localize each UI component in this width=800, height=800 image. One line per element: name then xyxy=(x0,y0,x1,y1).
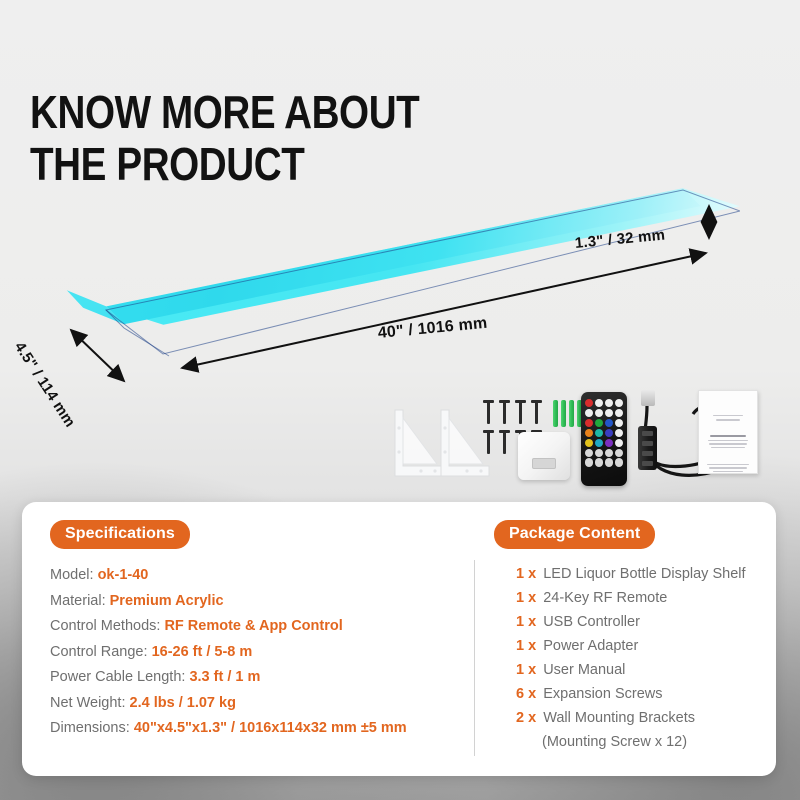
item-qty: 1 x xyxy=(516,662,536,678)
spec-label: Power Cable Length: xyxy=(50,669,185,685)
item-qty: 6 x xyxy=(516,686,536,702)
spec-value: 40"x4.5"x1.3" / 1016x114x32 mm ±5 mm xyxy=(134,720,407,736)
item-name: Power Adapter xyxy=(543,638,638,654)
product-illustration xyxy=(0,150,800,410)
item-qty: 1 x xyxy=(516,590,536,606)
infographic-canvas: KNOW MORE ABOUT THE PRODUCT 40" / xyxy=(0,0,800,800)
spec-row: Material: Premium Acrylic xyxy=(50,589,470,615)
item-name: Wall Mounting Brackets xyxy=(543,710,695,726)
specifications-panel: Specifications Model: ok-1-40 Material: … xyxy=(50,520,470,742)
item-qty: 1 x xyxy=(516,638,536,654)
item-qty: 2 x xyxy=(516,710,536,726)
specifications-list: Model: ok-1-40 Material: Premium Acrylic… xyxy=(50,563,470,742)
item-name: Expansion Screws xyxy=(543,686,662,702)
spec-label: Material: xyxy=(50,593,106,609)
panel-divider xyxy=(474,560,475,756)
list-item: 1 x USB Controller xyxy=(516,610,774,634)
usb-plug-icon xyxy=(641,390,655,406)
spec-value: Premium Acrylic xyxy=(110,593,224,609)
spec-value: 2.4 lbs / 1.07 kg xyxy=(130,695,236,711)
user-manual-icon xyxy=(698,390,758,474)
spec-label: Control Methods: xyxy=(50,618,160,634)
item-name: LED Liquor Bottle Display Shelf xyxy=(543,566,745,582)
spec-row: Control Range: 16-26 ft / 5-8 m xyxy=(50,640,470,666)
package-content-panel: Package Content 1 x LED Liquor Bottle Di… xyxy=(494,520,774,754)
list-item: 6 x Expansion Screws xyxy=(516,682,774,706)
item-name: USB Controller xyxy=(543,614,640,630)
spec-row: Net Weight: 2.4 lbs / 1.07 kg xyxy=(50,691,470,717)
spec-row: Dimensions: 40"x4.5"x1.3" / 1016x114x32 … xyxy=(50,716,470,742)
accessories-group xyxy=(385,388,775,493)
package-content-badge: Package Content xyxy=(494,520,655,549)
package-content-list: 1 x LED Liquor Bottle Display Shelf 1 x … xyxy=(494,562,774,754)
package-content-note: (Mounting Screw x 12) xyxy=(516,730,774,754)
spec-row: Control Methods: RF Remote & App Control xyxy=(50,614,470,640)
list-item: 1 x User Manual xyxy=(516,658,774,682)
specifications-badge: Specifications xyxy=(50,520,190,549)
info-card: Specifications Model: ok-1-40 Material: … xyxy=(22,502,776,776)
list-item: 1 x LED Liquor Bottle Display Shelf xyxy=(516,562,774,586)
spec-value: RF Remote & App Control xyxy=(164,618,342,634)
spec-value: 16-26 ft / 5-8 m xyxy=(152,644,253,660)
item-qty: 1 x xyxy=(516,614,536,630)
item-name: User Manual xyxy=(543,662,625,678)
usb-power-adapter-icon xyxy=(518,432,570,480)
spec-row: Model: ok-1-40 xyxy=(50,563,470,589)
spec-label: Dimensions: xyxy=(50,720,130,736)
list-item: 1 x Power Adapter xyxy=(516,634,774,658)
spec-value: ok-1-40 xyxy=(98,567,149,583)
remote-button-grid xyxy=(585,399,623,467)
inline-controller-box xyxy=(638,426,657,470)
spec-label: Model: xyxy=(50,567,94,583)
list-item: 1 x 24-Key RF Remote xyxy=(516,586,774,610)
spec-row: Power Cable Length: 3.3 ft / 1 m xyxy=(50,665,470,691)
rf-remote-icon xyxy=(581,392,627,486)
spec-value: 3.3 ft / 1 m xyxy=(189,669,260,685)
item-name: 24-Key RF Remote xyxy=(543,590,667,606)
item-qty: 1 x xyxy=(516,566,536,582)
spec-label: Net Weight: xyxy=(50,695,126,711)
usb-port xyxy=(532,458,556,469)
list-item: 2 x Wall Mounting Brackets xyxy=(516,706,774,730)
spec-label: Control Range: xyxy=(50,644,148,660)
